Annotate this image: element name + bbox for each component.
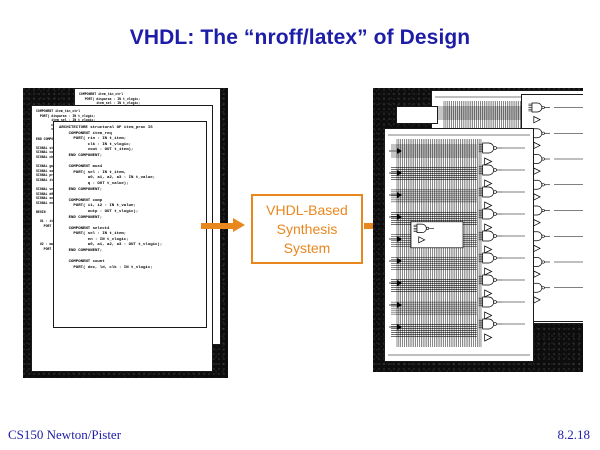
synthesis-box-line-2: Synthesis [277,220,338,239]
synthesis-system-box: VHDL-Based Synthesis System [251,194,363,264]
code-sheet-front-text: ARCHITECTURE structural OF item_proc IS … [59,126,162,271]
arrow-into-synthesis-icon [201,221,245,230]
schematic-sheet-corner [396,106,438,124]
slide-canvas: VHDL: The “nroff/latex” of Design COMPON… [0,0,600,450]
footer-slide-number: 8.2.18 [558,427,591,443]
footer-course-label: CS150 Newton/Pister [8,427,121,443]
schematic-drawing-front [385,129,533,361]
page-title: VHDL: The “nroff/latex” of Design [0,26,600,50]
schematic-sheet-front [384,128,534,362]
code-sheet-front: ARCHITECTURE structural OF item_proc IS … [53,121,207,328]
gate-schematic-image [373,88,583,372]
synthesis-box-line-3: System [284,239,331,258]
vhdl-code-listing-image: COMPONENT item_tin_ctrl PORT( disparas :… [23,88,228,378]
synthesis-box-line-1: VHDL-Based [266,201,348,220]
